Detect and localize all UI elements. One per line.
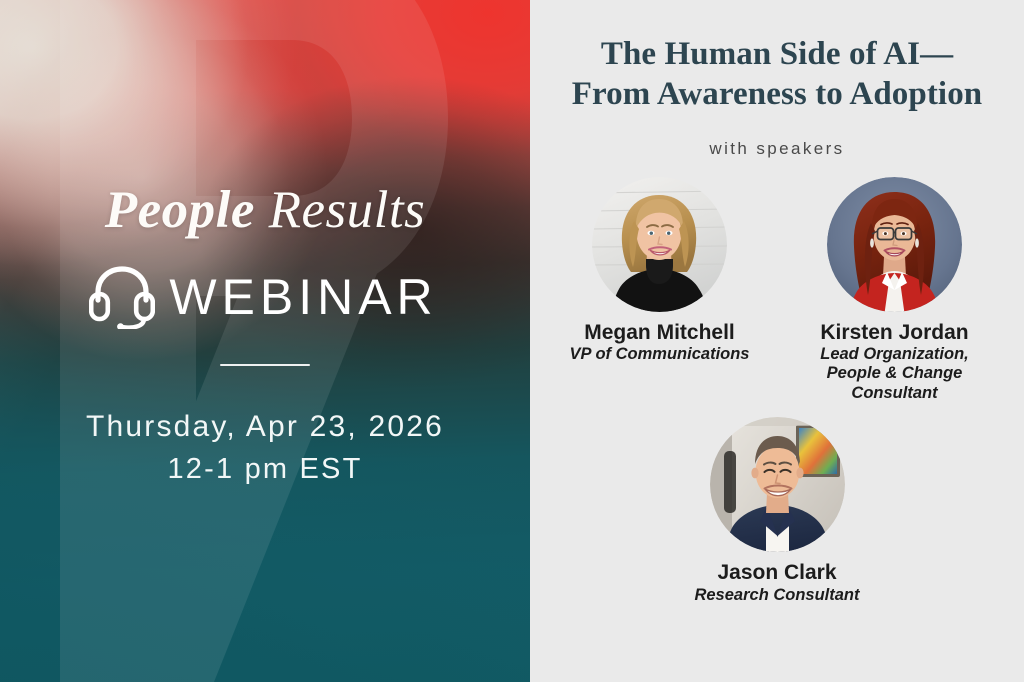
speaker-card-kirsten-jordan: Kirsten Jordan Lead Organization, People… — [791, 177, 998, 404]
speaker-row-bottom: Jason Clark Research Consultant — [556, 417, 998, 605]
speaker-row-top: Megan Mitchell VP of Communications — [556, 177, 998, 404]
brand-logo-text: People Results — [105, 184, 426, 237]
speaker-name: Megan Mitchell — [584, 321, 735, 345]
event-time: 12-1 pm EST — [86, 449, 444, 490]
left-branding-panel: People Results WEBINAR — [0, 0, 530, 682]
portrait-kirsten-jordan — [827, 177, 962, 312]
with-speakers-label: with speakers — [709, 139, 844, 159]
speaker-name: Kirsten Jordan — [820, 321, 968, 345]
speaker-role: VP of Communications — [570, 345, 750, 364]
event-date: Thursday, Apr 23, 2026 — [86, 406, 444, 449]
page-title: The Human Side of AI—From Awareness to A… — [562, 34, 992, 115]
avatar — [710, 417, 845, 552]
brand-word-results: Results — [269, 181, 426, 239]
right-content-panel: The Human Side of AI—From Awareness to A… — [530, 0, 1024, 682]
portrait-megan-mitchell — [592, 177, 727, 312]
webinar-label: WEBINAR — [169, 272, 440, 322]
left-panel-content: People Results WEBINAR — [0, 0, 530, 682]
avatar — [592, 177, 727, 312]
webinar-lockup: WEBINAR — [89, 265, 440, 329]
speaker-role: Research Consultant — [694, 586, 859, 605]
speaker-role: Lead Organization, People & Change Consu… — [791, 345, 998, 403]
brand-word-people: People — [105, 181, 255, 239]
decorative-divider — [220, 364, 310, 366]
avatar — [827, 177, 962, 312]
webinar-promo-poster: People Results WEBINAR — [0, 0, 1024, 682]
headset-icon — [89, 265, 155, 329]
event-datetime: Thursday, Apr 23, 2026 12-1 pm EST — [86, 406, 444, 490]
portrait-jason-clark — [710, 417, 845, 552]
speaker-card-jason-clark: Jason Clark Research Consultant — [673, 417, 881, 605]
speaker-name: Jason Clark — [717, 561, 836, 585]
speaker-card-megan-mitchell: Megan Mitchell VP of Communications — [556, 177, 763, 365]
